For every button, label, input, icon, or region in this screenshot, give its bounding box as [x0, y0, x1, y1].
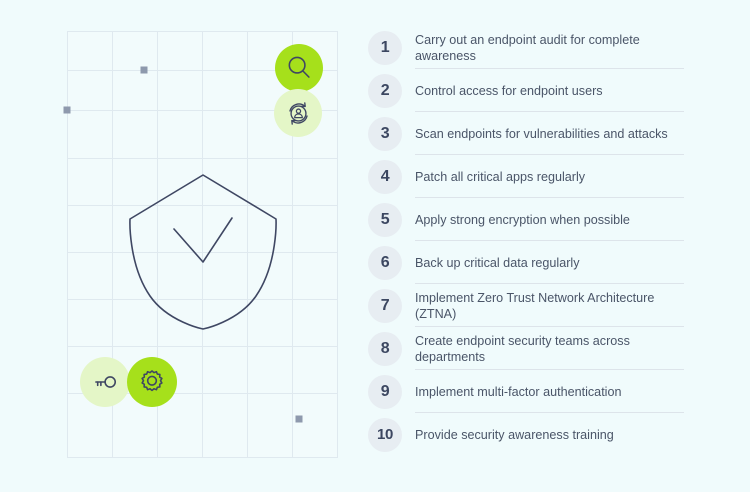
list-item[interactable]: 4 Patch all critical apps regularly — [368, 155, 698, 198]
shield-check-icon — [118, 172, 288, 332]
list-item-number: 5 — [368, 203, 402, 237]
list-item-number: 6 — [368, 246, 402, 280]
list-item-label: Create endpoint security teams across de… — [415, 333, 698, 365]
list-item[interactable]: 9 Implement multi-factor authentication — [368, 370, 698, 413]
list-item[interactable]: 1 Carry out an endpoint audit for comple… — [368, 26, 698, 69]
list-item[interactable]: 8 Create endpoint security teams across … — [368, 327, 698, 370]
list-item-number: 2 — [368, 74, 402, 108]
list-item-number: 4 — [368, 160, 402, 194]
list-item-label: Implement Zero Trust Network Architectur… — [415, 290, 698, 322]
grid-dot — [64, 107, 71, 114]
bubble-encryption-key[interactable] — [80, 357, 130, 407]
list-item-number: 9 — [368, 375, 402, 409]
best-practices-list: 1 Carry out an endpoint audit for comple… — [368, 26, 698, 456]
bubble-search[interactable] — [275, 44, 323, 92]
list-item-label: Implement multi-factor authentication — [415, 384, 698, 400]
list-item-number: 10 — [368, 418, 402, 452]
grid-dot — [296, 416, 303, 423]
list-item-label: Carry out an endpoint audit for complete… — [415, 32, 698, 64]
list-item-label: Back up critical data regularly — [415, 255, 698, 271]
list-item[interactable]: 7 Implement Zero Trust Network Architect… — [368, 284, 698, 327]
list-item[interactable]: 5 Apply strong encryption when possible — [368, 198, 698, 241]
list-item-label: Apply strong encryption when possible — [415, 212, 698, 228]
list-item-label: Patch all critical apps regularly — [415, 169, 698, 185]
list-item[interactable]: 2 Control access for endpoint users — [368, 69, 698, 112]
list-item-number: 3 — [368, 117, 402, 151]
illustration-panel — [0, 0, 360, 492]
list-item-number: 1 — [368, 31, 402, 65]
list-item-number: 7 — [368, 289, 402, 323]
user-refresh-icon — [284, 99, 313, 128]
list-item[interactable]: 3 Scan endpoints for vulnerabilities and… — [368, 112, 698, 155]
magnifier-icon — [284, 53, 314, 83]
list-item-label: Provide security awareness training — [415, 427, 698, 443]
grid-dot — [141, 67, 148, 74]
list-item[interactable]: 10 Provide security awareness training — [368, 413, 698, 456]
list-item-number: 8 — [368, 332, 402, 366]
bubble-user-access[interactable] — [274, 89, 322, 137]
gear-icon — [137, 367, 167, 397]
list-item[interactable]: 6 Back up critical data regularly — [368, 241, 698, 284]
list-item-label: Scan endpoints for vulnerabilities and a… — [415, 126, 698, 142]
grid-line-horizontal — [68, 346, 337, 347]
bubble-settings[interactable] — [127, 357, 177, 407]
list-item-label: Control access for endpoint users — [415, 83, 698, 99]
page-root: 1 Carry out an endpoint audit for comple… — [0, 0, 750, 492]
key-icon — [90, 367, 120, 397]
grid-line-horizontal — [68, 158, 337, 159]
